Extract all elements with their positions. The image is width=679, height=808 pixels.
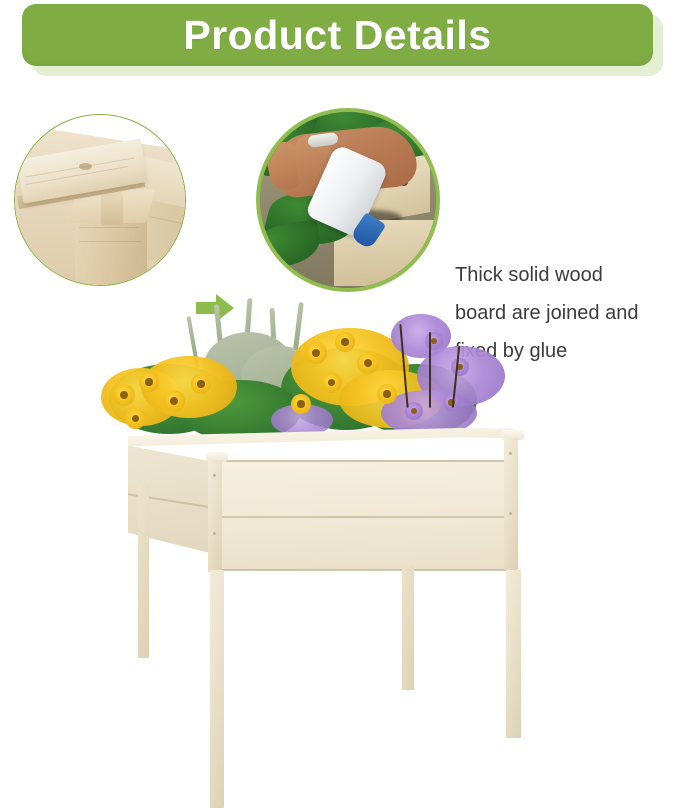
leg-back-left [138, 484, 149, 658]
wood-grain-line [79, 227, 139, 228]
screw [213, 474, 216, 477]
leg-back-right [402, 566, 414, 690]
bed-corner-post-front-right [504, 438, 518, 570]
daisy-flower [305, 342, 327, 364]
daisy-flower [321, 372, 342, 393]
header-banner: Product Details [22, 4, 663, 82]
glue-application-image [256, 108, 440, 292]
daisy-flower [139, 372, 159, 392]
bed-plank-seam [212, 516, 512, 518]
wood-joint-image [14, 114, 186, 286]
feature-text-line-1: Thick solid wood [455, 256, 679, 294]
bed-front-panel [212, 460, 512, 570]
page-title: Product Details [183, 15, 491, 56]
wood-tenon [101, 191, 123, 225]
banner-body: Product Details [22, 4, 653, 66]
screw [509, 452, 512, 455]
wood-joint-scene [15, 115, 185, 285]
bed-plank-seam [212, 569, 512, 571]
aster-stem [429, 332, 431, 408]
daisy-flower [357, 352, 379, 374]
aster-flower [425, 332, 443, 350]
daisy-flower [335, 332, 355, 352]
product-image [0, 290, 679, 709]
feature-detail-row: Thick solid wood board are joined and fi… [0, 108, 679, 288]
bed-top-rim [128, 428, 514, 448]
daisy-flower [113, 384, 135, 406]
wood-grain-line [79, 241, 141, 242]
leg-front-left [210, 570, 224, 808]
leg-front-right [506, 570, 521, 738]
screw [213, 532, 216, 535]
product-detail-page: Product Details [0, 0, 679, 709]
raised-garden-bed [110, 408, 530, 708]
screw [509, 512, 512, 515]
bed-plank-seam [212, 460, 512, 462]
daisy-flower [191, 374, 211, 394]
daisy-flower [377, 384, 397, 404]
aster-flower [451, 358, 469, 376]
